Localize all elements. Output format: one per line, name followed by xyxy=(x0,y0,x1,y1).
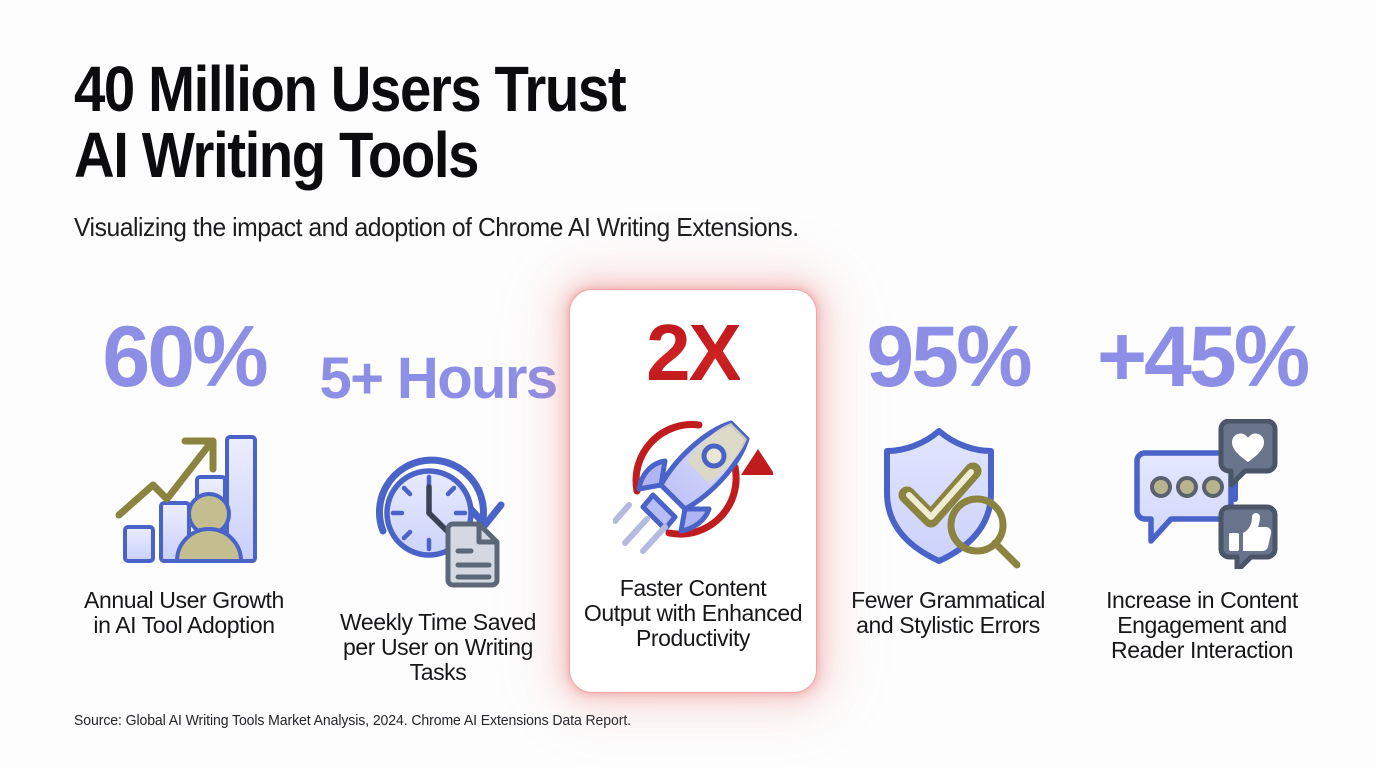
stat-caption: Weekly Time Saved per User on Writing Ta… xyxy=(313,610,563,685)
page-subtitle: Visualizing the impact and adoption of C… xyxy=(74,211,1072,243)
stat-caption: Fewer Grammatical and Stylistic Errors xyxy=(823,588,1073,638)
stat-value: 95% xyxy=(866,312,1029,402)
stat-value: +45% xyxy=(1097,312,1307,402)
clock-rotate-document-icon xyxy=(363,440,513,592)
stat-caption: Annual User Growth in AI Tool Adoption xyxy=(59,588,309,638)
stat-caption: Increase in Content Engagement and Reade… xyxy=(1077,588,1327,663)
stat-value: 5+ Hours xyxy=(319,312,556,424)
rocket-launch-arrow-up-icon xyxy=(613,408,773,560)
page-title: 40 Million Users Trust AI Writing Tools xyxy=(74,56,998,188)
stat-value: 2X xyxy=(646,310,740,396)
source-note: Source: Global AI Writing Tools Market A… xyxy=(74,713,631,729)
stat-caption: Faster Content Output with Enhanced Prod… xyxy=(577,576,809,651)
stat-value: 60% xyxy=(102,312,265,402)
stat-card-annual-user-growth[interactable]: 60% xyxy=(62,290,306,690)
bar-chart-growth-person-icon xyxy=(109,418,259,570)
stat-card-weekly-time-saved[interactable]: 5+ Hours xyxy=(316,290,560,690)
stat-card-faster-content-output[interactable]: 2X xyxy=(570,290,816,692)
stats-row: 60% xyxy=(62,290,1324,690)
chat-bubbles-heart-thumbsup-icon xyxy=(1125,418,1280,570)
stat-card-content-engagement[interactable]: +45% xyxy=(1080,290,1324,690)
header: 40 Million Users Trust AI Writing Tools … xyxy=(74,56,1124,243)
stat-card-fewer-errors[interactable]: 95% xyxy=(826,290,1070,690)
infographic-page: 40 Million Users Trust AI Writing Tools … xyxy=(0,0,1376,768)
shield-check-magnifier-icon xyxy=(873,418,1023,570)
